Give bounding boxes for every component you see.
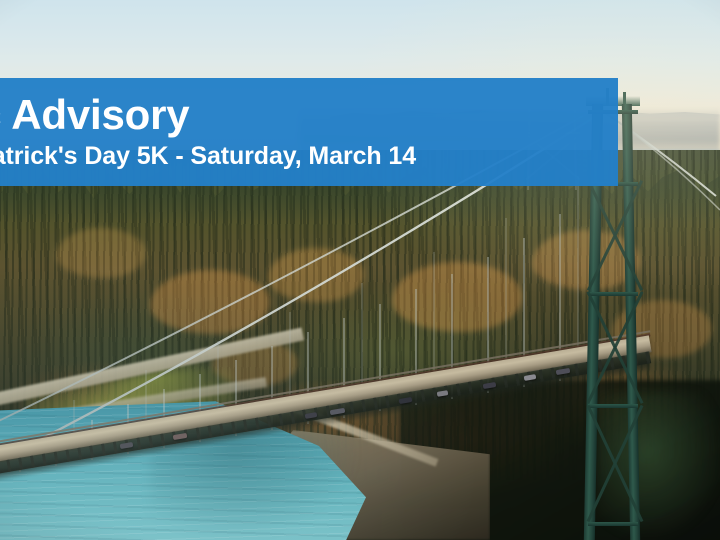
- advisory-banner: affic Advisory 0 St. Patrick's Day 5K - …: [0, 78, 618, 186]
- screenshot-root: affic Advisory 0 St. Patrick's Day 5K - …: [0, 0, 720, 540]
- tower-brace: [588, 522, 638, 526]
- advisory-title: affic Advisory: [0, 94, 618, 137]
- tower-brace: [588, 404, 638, 408]
- tower-brace: [588, 292, 638, 296]
- advisory-subtitle: 0 St. Patrick's Day 5K - Saturday, March…: [0, 143, 618, 169]
